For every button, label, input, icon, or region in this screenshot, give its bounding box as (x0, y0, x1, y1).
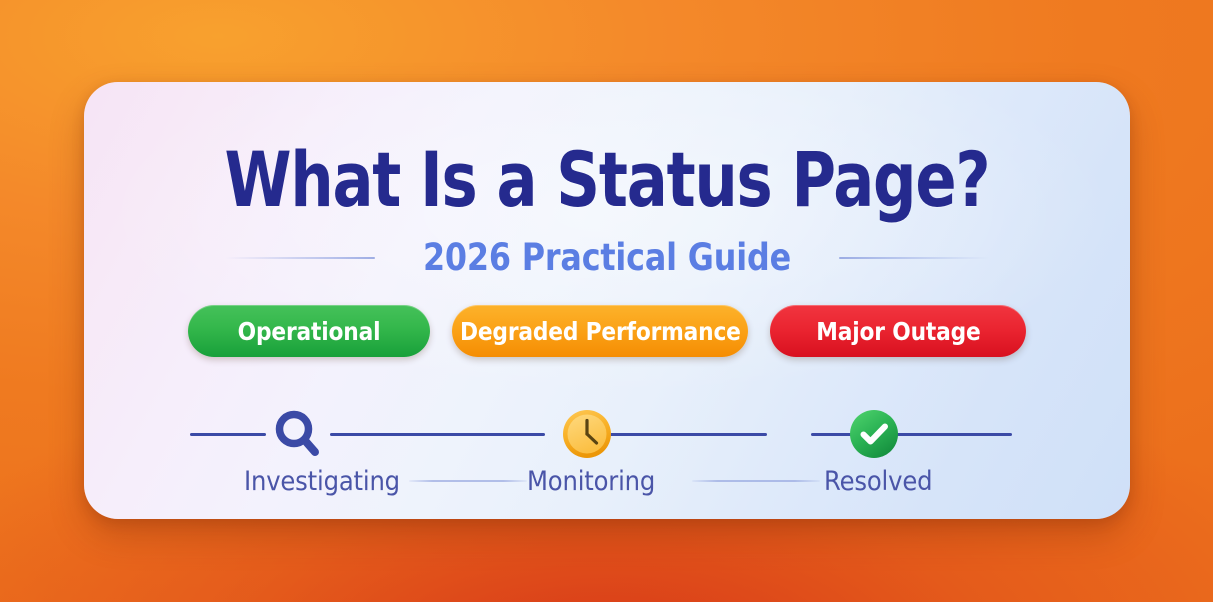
page-subtitle: 2026 Practical Guide (423, 236, 791, 280)
timeline-label-investigating: Investigating (244, 466, 400, 497)
timeline-track-segment-5 (896, 433, 1012, 436)
timeline-label-connector-1 (409, 480, 527, 482)
status-pill-operational[interactable]: Operational (188, 305, 430, 357)
incident-timeline: Investigating Monitoring Resolved (84, 382, 1130, 492)
timeline-track-segment-2 (330, 433, 545, 436)
status-pill-row: Operational Degraded Performance Major O… (84, 305, 1130, 357)
timeline-step-resolved[interactable] (842, 402, 906, 466)
status-pill-operational-label: Operational (238, 317, 381, 346)
timeline-step-investigating[interactable] (266, 402, 330, 466)
timeline-label-resolved: Resolved (824, 466, 932, 497)
subtitle-divider-left (225, 257, 375, 259)
status-pill-degraded-performance-label: Degraded Performance (460, 317, 741, 346)
subtitle-divider-right (839, 257, 989, 259)
timeline-label-monitoring: Monitoring (527, 466, 655, 497)
status-pill-degraded-performance[interactable]: Degraded Performance (452, 305, 748, 357)
check-circle-icon (849, 409, 899, 459)
timeline-track-segment-1 (190, 433, 266, 436)
clock-icon (562, 409, 612, 459)
timeline-step-monitoring[interactable] (555, 402, 619, 466)
magnifier-icon (267, 403, 329, 465)
subtitle-row: 2026 Practical Guide (84, 232, 1130, 284)
status-pill-major-outage[interactable]: Major Outage (770, 305, 1026, 357)
page-title: What Is a Status Page? (189, 136, 1026, 224)
status-pill-major-outage-label: Major Outage (816, 317, 980, 346)
status-page-card: What Is a Status Page? 2026 Practical Gu… (84, 82, 1130, 519)
timeline-label-connector-2 (692, 480, 820, 482)
